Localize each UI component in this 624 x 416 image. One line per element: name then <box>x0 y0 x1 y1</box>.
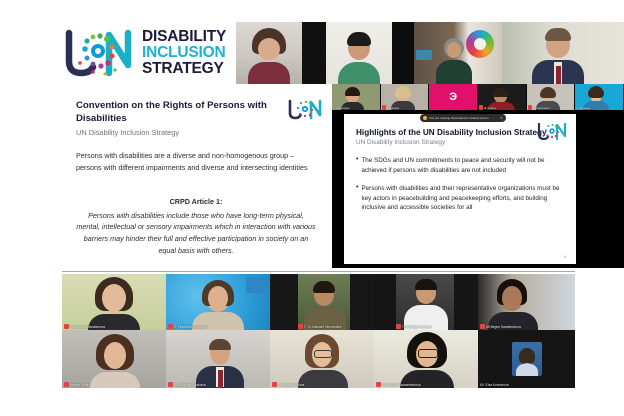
participant-name-label: 60. Elza Kocherova <box>480 383 509 387</box>
participant-name-label: 42. Elina Kadisaliamova <box>70 325 105 329</box>
gallery-row-1: 42. Elina Kadisaliamova 2. Federica Dovi… <box>62 274 575 330</box>
close-icon[interactable]: ✕ <box>500 116 503 120</box>
mic-muted-icon <box>168 382 173 387</box>
shared-screen-indicator-icon <box>423 116 427 120</box>
slide-title: Convention on the Rights of Persons with… <box>76 100 276 125</box>
participant-video-man-green-shirt[interactable] <box>326 22 392 84</box>
participant-name-label: 43. Fatima Karmanbekova <box>382 383 421 387</box>
participant-video-woman-headset[interactable] <box>236 22 302 84</box>
mic-muted-icon <box>382 105 386 110</box>
mic-muted-icon <box>272 382 277 387</box>
gallery-tile-6[interactable]: Megan Smith <box>62 330 166 388</box>
gallery-tile-9[interactable]: 43. Fatima Karmanbekova <box>374 330 478 388</box>
un-logo-mark <box>62 25 134 81</box>
viewing-shared-screen-toolbar[interactable]: You are viewing Присяжнюк's shared scree… <box>420 114 506 122</box>
participant-name-label: Megan Smith <box>70 383 89 387</box>
shared-slide: You are viewing Присяжнюк's shared scree… <box>344 114 576 264</box>
gallery-tile-7[interactable]: 43. Jan Van Shakurov <box>166 330 270 388</box>
participant-video-dark-2[interactable] <box>392 22 414 84</box>
bullet-text: The SDGs and UN commitments to peace and… <box>361 156 564 175</box>
mic-muted-icon <box>479 105 483 110</box>
mic-muted-icon <box>298 324 303 329</box>
avatar <box>512 342 542 376</box>
mic-muted-icon <box>528 105 532 110</box>
bullet-marker: • <box>356 156 358 175</box>
mic-muted-icon <box>480 324 485 329</box>
gallery-row-2: Megan Smith 43. Jan Van Shakurov <box>62 330 575 388</box>
slide-subtitle: UN Disability Inclusion Strategy <box>76 128 179 137</box>
thumb-participant-avatar-initial[interactable]: Э <box>429 84 478 110</box>
mic-muted-icon <box>376 382 381 387</box>
thumb-participant-5[interactable]: К. Мельник <box>575 84 624 110</box>
thumb-participant-4[interactable]: О. Сидоренко <box>527 84 576 110</box>
top-video-strip <box>236 22 624 84</box>
brand-wordmark: DISABILITY INCLUSION STRATEGY <box>142 29 226 76</box>
participant-name-label: 65 Begim Samatbekova <box>486 325 521 329</box>
gallery-tile-5[interactable]: 65 Begim Samatbekova <box>478 274 575 330</box>
un-disability-inclusion-strategy-logo: DISABILITY INCLUSION STRATEGY <box>62 22 238 84</box>
participant-name-label: 7M Zakirjon Gofurov <box>402 325 432 329</box>
thumb-participant-2[interactable]: А. Іванова <box>381 84 430 110</box>
un-dis-small-logo <box>536 122 568 142</box>
shared-screen-panel: You are viewing Присяжнюк's shared scree… <box>332 110 624 268</box>
participant-video-man-suit[interactable] <box>502 22 624 84</box>
viewing-shared-screen-label: You are viewing Присяжнюк's shared scree… <box>429 116 489 120</box>
participant-gallery: 42. Elina Kadisaliamova 2. Federica Dovi… <box>62 274 575 388</box>
shared-slide-title: Highlights of the UN Disability Inclusio… <box>356 128 552 139</box>
gallery-top-divider <box>62 271 575 272</box>
shared-slide-bullets: • The SDGs and UN commitments to peace a… <box>356 156 564 222</box>
mic-muted-icon <box>64 382 69 387</box>
bullet-text: Persons with disabilities and their repr… <box>361 184 564 213</box>
gallery-tile-4[interactable]: 7M Zakirjon Gofurov <box>374 274 478 330</box>
slide-body-text: Persons with disabilities are a diverse … <box>76 150 316 173</box>
thumb-participant-3[interactable]: М. Коваль <box>478 84 527 110</box>
un-dis-small-logo <box>286 98 324 122</box>
participant-name-label: 43. Jan Van Shakurov <box>174 383 206 387</box>
gallery-tile-2[interactable]: 2. Federica Dovingone <box>166 274 270 330</box>
gallery-tile-10[interactable]: 60. Elza Kocherova <box>478 330 575 388</box>
participant-name-label: 2. Federica Dovingone <box>174 325 207 329</box>
slide-article-block: CRPD Article 1: Persons with disabilitie… <box>76 196 316 256</box>
mic-muted-icon <box>168 324 173 329</box>
mic-muted-icon <box>396 324 401 329</box>
bullet-item: • The SDGs and UN commitments to peace a… <box>356 156 564 175</box>
brand-line-disability: DISABILITY <box>142 29 226 45</box>
participant-name-label: 7. Tu Kabuchi Hernandez <box>304 325 341 329</box>
mic-muted-icon <box>64 324 69 329</box>
bullet-item: • Persons with disabilities and their re… <box>356 184 564 213</box>
gallery-tile-8[interactable]: 14. Ludek Frolova <box>270 330 374 388</box>
bullet-marker: • <box>356 184 358 213</box>
participant-video-office-banner[interactable] <box>414 22 502 84</box>
participant-video-dark-1[interactable] <box>302 22 326 84</box>
participant-thumbnail-strip: Т. Присяжнюк А. Іванова Э М. Коваль О. С… <box>332 84 624 110</box>
slide-page-number: 8 <box>564 255 566 259</box>
screenshot-root: DISABILITY INCLUSION STRATEGY <box>0 0 624 416</box>
slide-article-quote: Persons with disabilities include those … <box>76 210 316 257</box>
gallery-tile-3[interactable]: 7. Tu Kabuchi Hernandez <box>270 274 374 330</box>
gallery-tile-1[interactable]: 42. Elina Kadisaliamova <box>62 274 166 330</box>
presentation-slide-left: Convention on the Rights of Persons with… <box>62 92 330 264</box>
thumb-participant-1[interactable]: Т. Присяжнюк <box>332 84 381 110</box>
participant-name-label: 14. Ludek Frolova <box>278 383 304 387</box>
brand-line-inclusion: INCLUSION <box>142 45 226 61</box>
slide-article-label: CRPD Article 1: <box>76 196 316 208</box>
avatar-initial: Э <box>429 84 477 110</box>
brand-line-strategy: STRATEGY <box>142 61 226 77</box>
shared-slide-subtitle: UN Disability Inclusion Strategy <box>356 139 445 146</box>
